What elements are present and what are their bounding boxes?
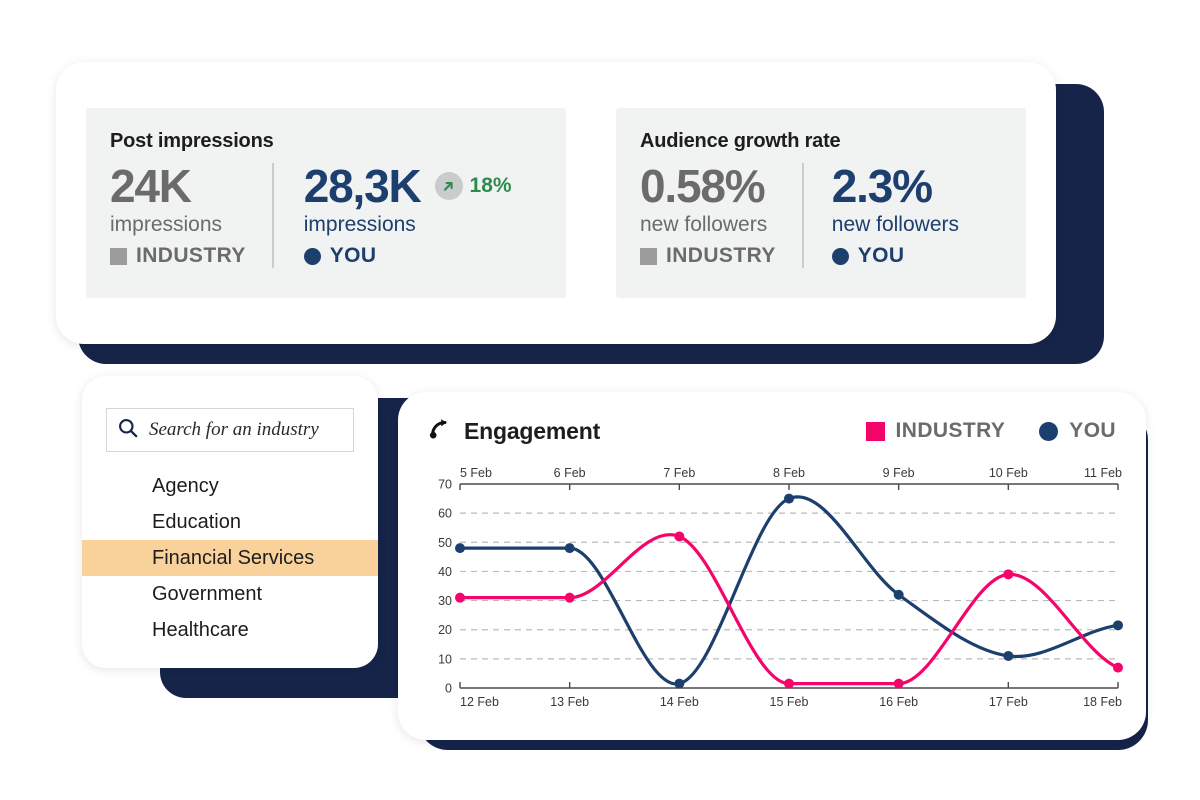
industry-picker-card: Search for an industry Agency Education …	[82, 376, 378, 668]
chart-title: Engagement	[464, 418, 600, 445]
y-axis-tick-label: 70	[438, 478, 452, 492]
data-point[interactable]	[674, 531, 684, 541]
growth-industry-legend: INDUSTRY	[640, 244, 776, 268]
data-point[interactable]	[455, 593, 465, 603]
legend-industry-label: INDUSTRY	[896, 419, 1006, 443]
impressions-you-legend: YOU	[304, 244, 512, 268]
search-input[interactable]: Search for an industry	[106, 408, 354, 452]
engagement-chart-card: Engagement INDUSTRY YOU 0102030405060705…	[398, 392, 1146, 740]
circle-marker-icon	[304, 248, 321, 265]
y-axis-tick-label: 30	[438, 594, 452, 608]
x-axis-bottom-label: 16 Feb	[879, 695, 918, 709]
growth-you-column: 2.3% new followers YOU	[802, 163, 985, 268]
industry-item-label: Agency	[152, 475, 219, 498]
x-axis-top-label: 6 Feb	[554, 466, 586, 480]
chart-svg: 0102030405060705 Feb12 Feb6 Feb13 Feb7 F…	[424, 456, 1124, 718]
y-axis-tick-label: 0	[445, 682, 452, 696]
data-point[interactable]	[1113, 663, 1123, 673]
y-axis-tick-label: 10	[438, 652, 452, 666]
growth-industry-value: 0.58%	[640, 163, 776, 210]
x-axis-top-label: 7 Feb	[663, 466, 695, 480]
industry-list: Agency Education Financial Services Gove…	[82, 468, 378, 648]
screen: Post impressions 24K impressions INDUSTR…	[0, 0, 1200, 800]
engagement-line-chart: 0102030405060705 Feb12 Feb6 Feb13 Feb7 F…	[424, 456, 1124, 718]
stats-card: Post impressions 24K impressions INDUSTR…	[56, 62, 1056, 344]
impressions-delta-badge: 18%	[435, 172, 512, 200]
growth-you-legend: YOU	[832, 244, 959, 268]
x-axis-bottom-label: 15 Feb	[770, 695, 809, 709]
data-point[interactable]	[894, 679, 904, 689]
data-point[interactable]	[565, 593, 575, 603]
x-axis-top-label: 11 Feb	[1084, 466, 1122, 480]
series-line-you	[460, 497, 1118, 684]
y-axis-tick-label: 20	[438, 623, 452, 637]
x-axis-bottom-label: 13 Feb	[550, 695, 589, 709]
industry-item-label: Financial Services	[152, 547, 314, 570]
engagement-share-arrow-icon	[428, 417, 452, 446]
industry-item-label: Healthcare	[152, 619, 249, 642]
impressions-you-unit: impressions	[304, 212, 512, 238]
x-axis-bottom-label: 12 Feb	[460, 695, 499, 709]
data-point[interactable]	[1003, 651, 1013, 661]
impressions-you-legend-label: YOU	[330, 244, 377, 268]
x-axis-top-label: 9 Feb	[883, 466, 915, 480]
impressions-industry-value: 24K	[110, 163, 246, 210]
y-axis-tick-label: 60	[438, 507, 452, 521]
growth-you-legend-label: YOU	[858, 244, 905, 268]
x-axis-bottom-label: 14 Feb	[660, 695, 699, 709]
panel-title-growth: Audience growth rate	[640, 130, 1002, 153]
data-point[interactable]	[455, 543, 465, 553]
square-marker-icon	[110, 248, 127, 265]
chart-header: Engagement INDUSTRY YOU	[428, 414, 1116, 448]
audience-growth-panel: Audience growth rate 0.58% new followers…	[616, 108, 1026, 298]
impressions-you-value: 28,3K	[304, 163, 421, 210]
x-axis-bottom-label: 17 Feb	[989, 695, 1028, 709]
data-point[interactable]	[894, 590, 904, 600]
data-point[interactable]	[1113, 620, 1123, 630]
growth-you-value: 2.3%	[832, 163, 959, 210]
growth-you-unit: new followers	[832, 212, 959, 238]
x-axis-top-label: 5 Feb	[460, 466, 492, 480]
industry-item-label: Government	[152, 583, 262, 606]
x-axis-top-label: 10 Feb	[989, 466, 1028, 480]
growth-industry-column: 0.58% new followers INDUSTRY	[640, 163, 802, 268]
arrow-up-right-icon	[435, 172, 463, 200]
search-placeholder: Search for an industry	[149, 419, 319, 441]
square-marker-icon	[866, 422, 885, 441]
legend-industry[interactable]: INDUSTRY	[866, 419, 1006, 443]
list-item[interactable]: Education	[82, 504, 378, 540]
impressions-industry-unit: impressions	[110, 212, 246, 238]
industry-item-label: Education	[152, 511, 241, 534]
square-marker-icon	[640, 248, 657, 265]
list-item[interactable]: Government	[82, 576, 378, 612]
impressions-delta-value: 18%	[470, 174, 512, 198]
impressions-industry-column: 24K impressions INDUSTRY	[110, 163, 272, 268]
impressions-industry-legend-label: INDUSTRY	[136, 244, 246, 268]
data-point[interactable]	[1003, 569, 1013, 579]
growth-industry-legend-label: INDUSTRY	[666, 244, 776, 268]
data-point[interactable]	[674, 679, 684, 689]
legend-you-label: YOU	[1069, 419, 1116, 443]
legend-you[interactable]: YOU	[1039, 419, 1116, 443]
x-axis-top-label: 8 Feb	[773, 466, 805, 480]
y-axis-tick-label: 50	[438, 536, 452, 550]
growth-industry-unit: new followers	[640, 212, 776, 238]
list-item[interactable]: Healthcare	[82, 612, 378, 648]
impressions-industry-legend: INDUSTRY	[110, 244, 246, 268]
data-point[interactable]	[565, 543, 575, 553]
y-axis-tick-label: 40	[438, 565, 452, 579]
panel-title-impressions: Post impressions	[110, 130, 542, 153]
post-impressions-panel: Post impressions 24K impressions INDUSTR…	[86, 108, 566, 298]
chart-legend: INDUSTRY YOU	[866, 419, 1116, 443]
x-axis-bottom-label: 18 Feb	[1083, 695, 1122, 709]
list-item[interactable]: Agency	[82, 468, 378, 504]
list-item-selected[interactable]: Financial Services	[82, 540, 378, 576]
circle-marker-icon	[1039, 422, 1058, 441]
search-icon	[117, 417, 139, 444]
series-line-industry	[460, 535, 1118, 684]
data-point[interactable]	[784, 494, 794, 504]
data-point[interactable]	[784, 679, 794, 689]
circle-marker-icon	[832, 248, 849, 265]
impressions-you-column: 28,3K 18% impressions	[272, 163, 538, 268]
